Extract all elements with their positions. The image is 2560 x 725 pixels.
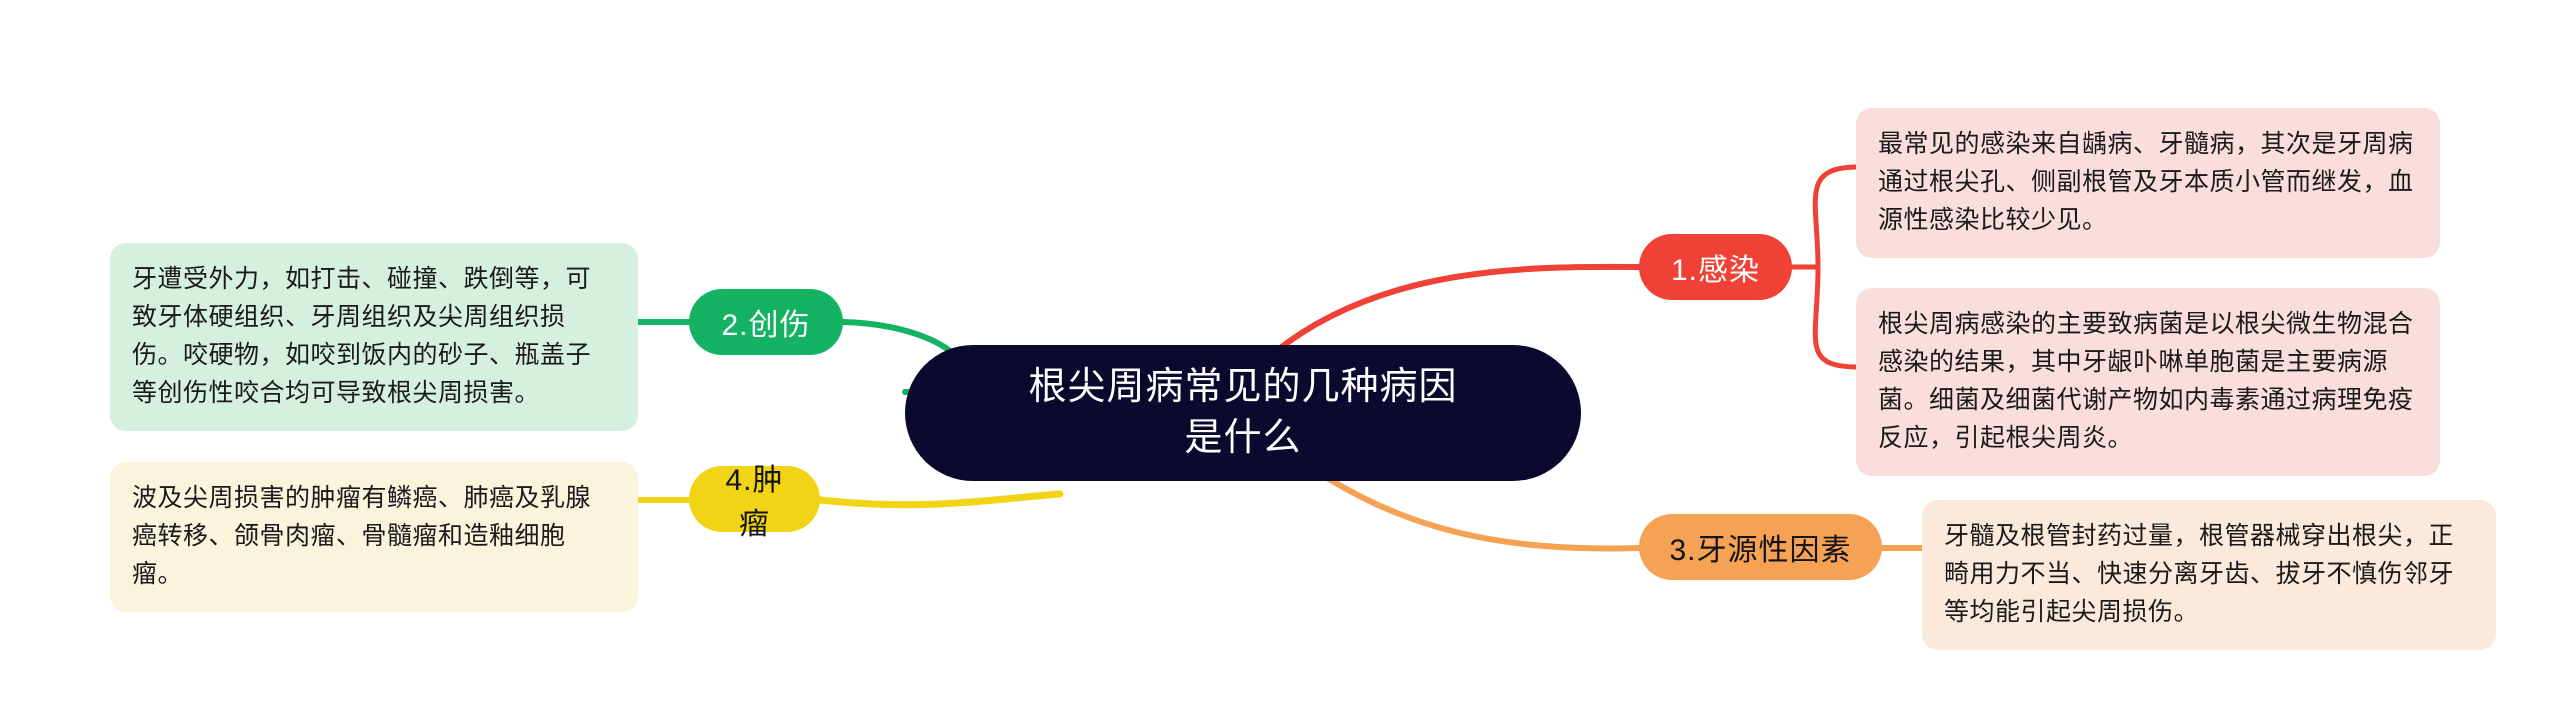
branch-node-tumor[interactable]: 4.肿瘤 xyxy=(689,466,820,532)
branch-node-tumor-label: 4.肿瘤 xyxy=(715,455,794,543)
central-node-label-line2: 是什么 xyxy=(1028,413,1457,464)
mindmap-canvas: 根尖周病常见的几种病因 是什么 1.感染 2.创伤 3.牙源性因素 4.肿瘤 最… xyxy=(0,0,2560,725)
leaf-card-infection-2[interactable]: 根尖周病感染的主要致病菌是以根尖微生物混合感染的结果，其中牙龈卟啉单胞菌是主要病… xyxy=(1856,288,2440,476)
branch-node-trauma-label: 2.创伤 xyxy=(721,300,810,344)
leaf-card-trauma[interactable]: 牙遭受外力，如打击、碰撞、跌倒等，可致牙体硬组织、牙周组织及尖周组织损伤。咬硬物… xyxy=(110,243,638,431)
central-node-label-line1: 根尖周病常见的几种病因 xyxy=(1028,362,1457,413)
branch-node-iatrogenic-label: 3.牙源性因素 xyxy=(1669,525,1851,569)
connector-infection xyxy=(1275,267,1639,352)
branch-node-trauma[interactable]: 2.创伤 xyxy=(689,289,843,355)
central-node[interactable]: 根尖周病常见的几种病因 是什么 xyxy=(905,345,1581,481)
branch-node-iatrogenic[interactable]: 3.牙源性因素 xyxy=(1639,514,1882,580)
connector-tumor xyxy=(820,494,1060,505)
branch-node-infection-label: 1.感染 xyxy=(1671,245,1760,289)
leaf-card-iatrogenic[interactable]: 牙髓及根管封药过量，根管器械穿出根尖，正畸用力不当、快速分离牙齿、拔牙不慎伤邻牙… xyxy=(1922,500,2496,650)
central-node-label: 根尖周病常见的几种病因 是什么 xyxy=(1028,362,1457,465)
leaf-card-infection-1[interactable]: 最常见的感染来自龋病、牙髓病，其次是牙周病通过根尖孔、侧副根管及牙本质小管而继发… xyxy=(1856,108,2440,258)
connector-infection-card-2 xyxy=(1815,267,1856,367)
branch-node-infection[interactable]: 1.感染 xyxy=(1639,234,1792,300)
connector-infection-card-1 xyxy=(1815,167,1856,267)
leaf-card-tumor[interactable]: 波及尖周损害的肿瘤有鳞癌、肺癌及乳腺癌转移、颌骨肉瘤、骨髓瘤和造釉细胞瘤。 xyxy=(110,462,638,612)
